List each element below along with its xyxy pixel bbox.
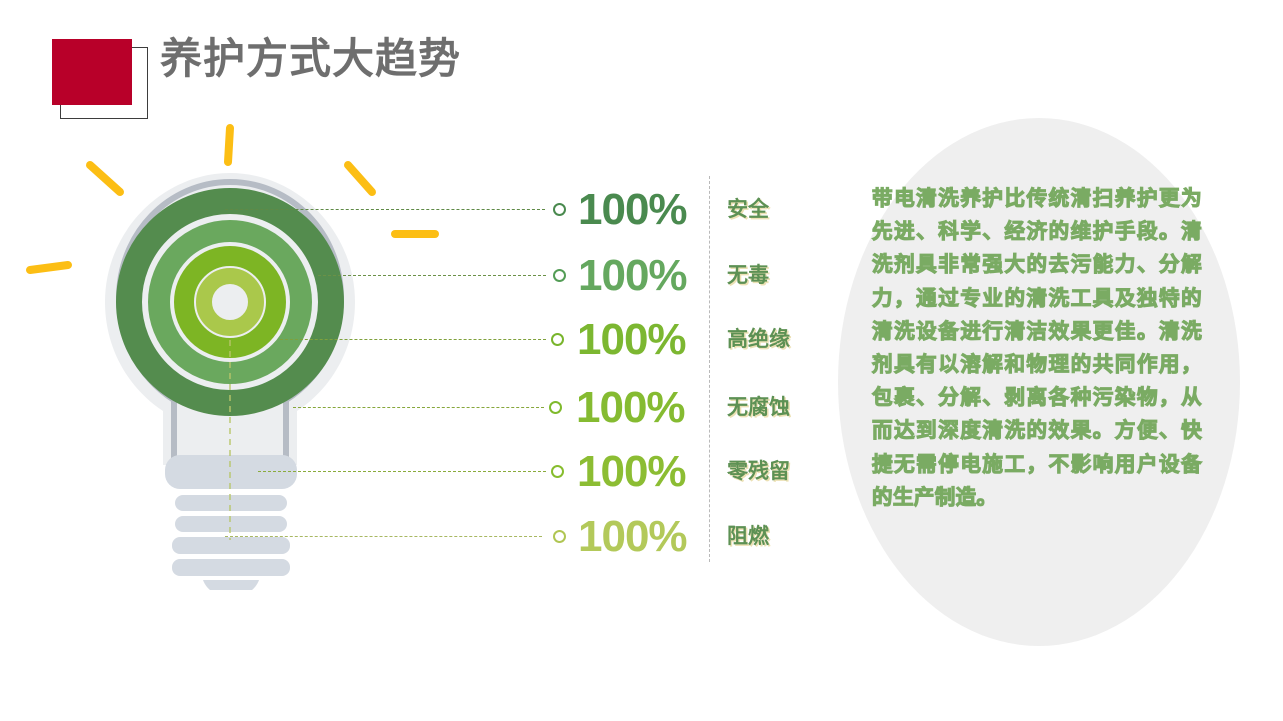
connector-marker	[553, 530, 566, 543]
metric-label: 零残留	[727, 442, 790, 502]
lightbulb-graphic	[20, 110, 440, 590]
base-tip	[203, 580, 259, 590]
bulb-base	[165, 455, 297, 590]
lightbulb-svg	[20, 110, 440, 590]
metric-value: 100%	[578, 180, 687, 240]
metric-value: 100%	[577, 442, 686, 502]
title-accent-square	[52, 39, 132, 105]
metric-value: 100%	[577, 310, 686, 370]
metric-label: 无毒	[727, 246, 769, 306]
metric-value: 100%	[578, 507, 687, 567]
metric-value: 100%	[578, 246, 687, 306]
ray-left-icon	[30, 265, 68, 270]
connector-marker	[553, 269, 566, 282]
connector-marker	[549, 401, 562, 414]
ray-upper-right-icon	[348, 165, 372, 192]
base-rib3	[172, 537, 290, 554]
metric-value: 100%	[576, 378, 685, 438]
label-divider	[709, 176, 710, 562]
connector-marker	[551, 465, 564, 478]
metric-label: 无腐蚀	[727, 378, 790, 438]
base-rib2	[175, 516, 287, 532]
metric-label: 阻燃	[727, 507, 769, 567]
base-cap	[165, 455, 297, 489]
metric-label: 安全	[727, 180, 769, 240]
page-title: 养护方式大趋势	[160, 38, 461, 80]
slide-canvas: 养护方式大趋势	[0, 0, 1283, 721]
base-rib1	[175, 495, 287, 511]
ray-top-icon	[228, 128, 230, 162]
base-rib4	[172, 559, 290, 576]
connector-marker	[553, 203, 566, 216]
metric-label: 高绝缘	[727, 310, 790, 370]
ray-upper-left-icon	[90, 165, 120, 192]
connector-marker	[551, 333, 564, 346]
description-paragraph: 带电清洗养护比传统清扫养护更为先进、科学、经济的维护手段。清洗剂具非常强大的去污…	[872, 182, 1202, 514]
